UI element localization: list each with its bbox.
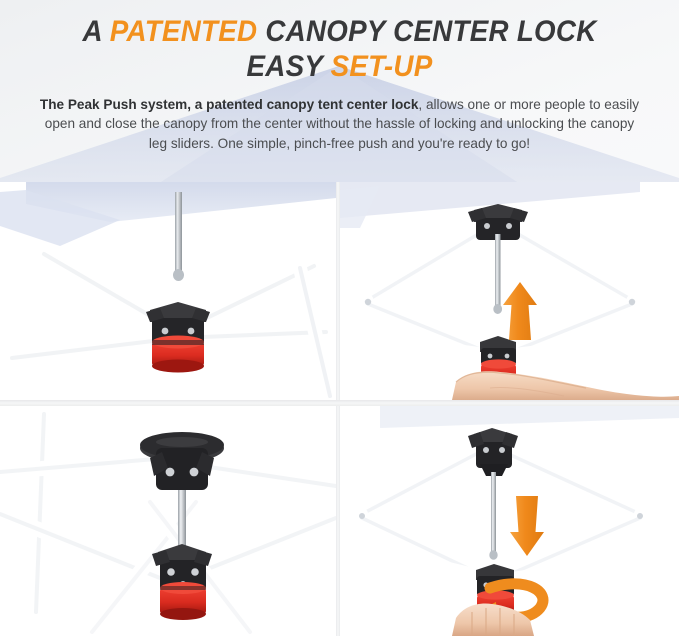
red-base-hub [152,336,204,373]
title-highlight-patented: PATENTED [110,15,258,48]
page-title-line-1: A PATENTED CANOPY CENTER LOCK [37,16,641,48]
infographic-page: A PATENTED CANOPY CENTER LOCK EASY SET-U… [0,0,679,636]
panel-divider-horizontal [0,400,679,406]
panel-push-up-art [340,182,679,400]
panel-open-canopy [0,182,336,400]
photo-grid [0,182,679,636]
center-rod [178,490,186,552]
panel-locked-closeup-art [0,406,336,636]
title-part-easy: EASY [246,50,330,83]
title-highlight-setup: SET-UP [331,50,433,83]
header: A PATENTED CANOPY CENTER LOCK EASY SET-U… [0,0,679,154]
center-rod [495,234,501,308]
panel-divider-vertical [336,182,340,636]
panel-pull-down-art [340,406,679,636]
panel-push-up [340,182,679,400]
subtitle-bold-lead: The Peak Push system, a patented canopy … [40,97,419,112]
panel-pull-down [340,406,679,636]
page-title-line-2: EASY SET-UP [37,51,641,83]
center-rod [491,472,496,554]
title-part-b: CANOPY CENTER LOCK [257,15,596,48]
panel-open-canopy-art [0,182,336,400]
panel-locked-closeup [0,406,336,636]
subtitle-paragraph: The Peak Push system, a patented canopy … [40,95,640,154]
title-part-a: A [82,15,109,48]
red-base-hub [160,582,206,620]
subtitle-closing-line: One simple, pinch-free push and you're r… [218,136,530,151]
center-rod [175,192,182,274]
